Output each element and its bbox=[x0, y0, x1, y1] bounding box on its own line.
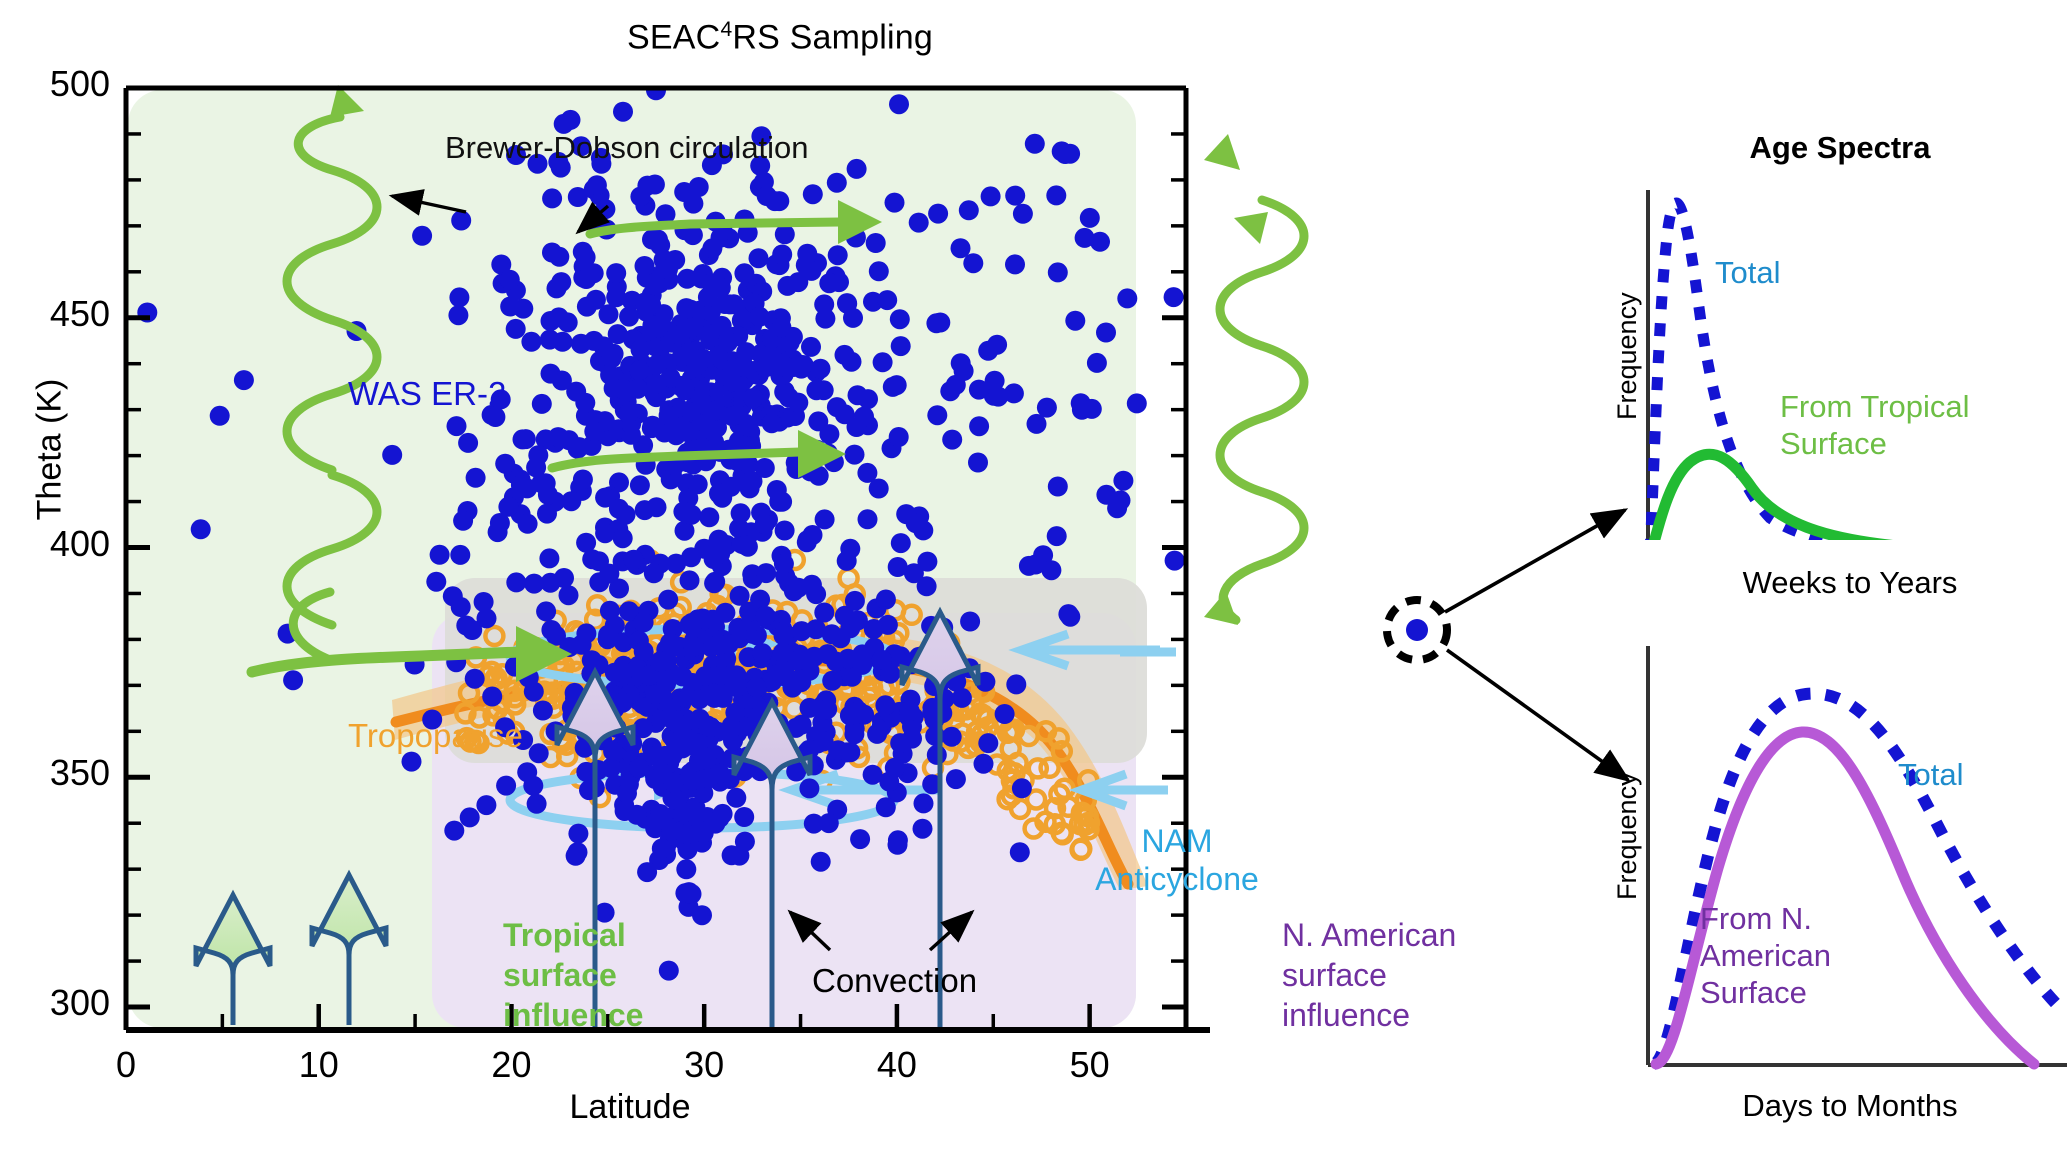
x-tick-20: 20 bbox=[466, 1044, 556, 1086]
top-source-line2: Surface bbox=[1780, 425, 1969, 462]
y-tick-300: 300 bbox=[0, 982, 110, 1024]
nasi-line1: N. American bbox=[1282, 915, 1456, 955]
annotation-tropopause: Tropopause bbox=[348, 717, 523, 755]
nasi-line3: influence bbox=[1282, 995, 1456, 1035]
bottom-spectra-source-label: From N. American Surface bbox=[1700, 900, 1831, 1012]
x-tick-40: 40 bbox=[852, 1044, 942, 1086]
x-tick-0: 0 bbox=[81, 1044, 171, 1086]
top-spectra-source-label: From Tropical Surface bbox=[1780, 388, 1969, 462]
age-spectra-top-chart bbox=[1630, 180, 2067, 540]
annotation-namerican-surface-influence: N. American surface influence bbox=[1282, 915, 1456, 1035]
nam-line2: Anticyclone bbox=[1062, 861, 1292, 899]
y-tick-450: 450 bbox=[0, 293, 110, 335]
highlighted-sample-circle bbox=[1387, 600, 1447, 660]
x-tick-50: 50 bbox=[1045, 1044, 1135, 1086]
y-axis-title: Theta (K) bbox=[31, 340, 70, 560]
bottom-spectra-ylabel: Frequency bbox=[1612, 772, 1643, 900]
top-total-curve bbox=[1650, 203, 2060, 540]
bottom-source-line2: American bbox=[1700, 937, 1831, 974]
y-tick-350: 350 bbox=[0, 752, 110, 794]
x-tick-10: 10 bbox=[274, 1044, 364, 1086]
annotation-convection: Convection bbox=[812, 962, 977, 1000]
bottom-namerican-curve bbox=[1656, 732, 2034, 1064]
bottom-spectra-xlabel: Days to Months bbox=[1640, 1088, 2060, 1124]
bottom-spectra-total-label: Total bbox=[1898, 757, 1963, 793]
top-spectra-ylabel: Frequency bbox=[1612, 292, 1643, 420]
top-spectra-xlabel: Weeks to Years bbox=[1640, 565, 2060, 601]
top-spectra-total-label: Total bbox=[1715, 255, 1780, 291]
bottom-source-line1: From N. bbox=[1700, 900, 1831, 937]
top-source-line1: From Tropical bbox=[1780, 388, 1969, 425]
age-spectra-bottom-chart bbox=[1630, 640, 2067, 1070]
nam-line1: NAM bbox=[1062, 823, 1292, 861]
x-axis-title: Latitude bbox=[450, 1088, 810, 1127]
annotation-nam-anticyclone: NAM Anticyclone bbox=[1062, 823, 1292, 899]
tsi-line1: Tropical bbox=[503, 915, 643, 955]
tsi-line3: influence bbox=[503, 995, 643, 1035]
y-tick-500: 500 bbox=[0, 63, 110, 105]
x-tick-30: 30 bbox=[659, 1044, 749, 1086]
bottom-source-line3: Surface bbox=[1700, 974, 1831, 1011]
nasi-line2: surface bbox=[1282, 955, 1456, 995]
top-tropical-curve bbox=[1650, 454, 2064, 540]
annotation-brewer-dobson: Brewer-Dobson circulation bbox=[445, 130, 809, 166]
tsi-line2: surface bbox=[503, 955, 643, 995]
age-spectra-title: Age Spectra bbox=[1680, 130, 2000, 166]
annotation-was-er2: WAS ER-2 bbox=[348, 375, 506, 413]
spectra-connector-arrows bbox=[1445, 510, 1628, 780]
annotation-tropical-surface-influence: Tropical surface influence bbox=[503, 915, 643, 1035]
